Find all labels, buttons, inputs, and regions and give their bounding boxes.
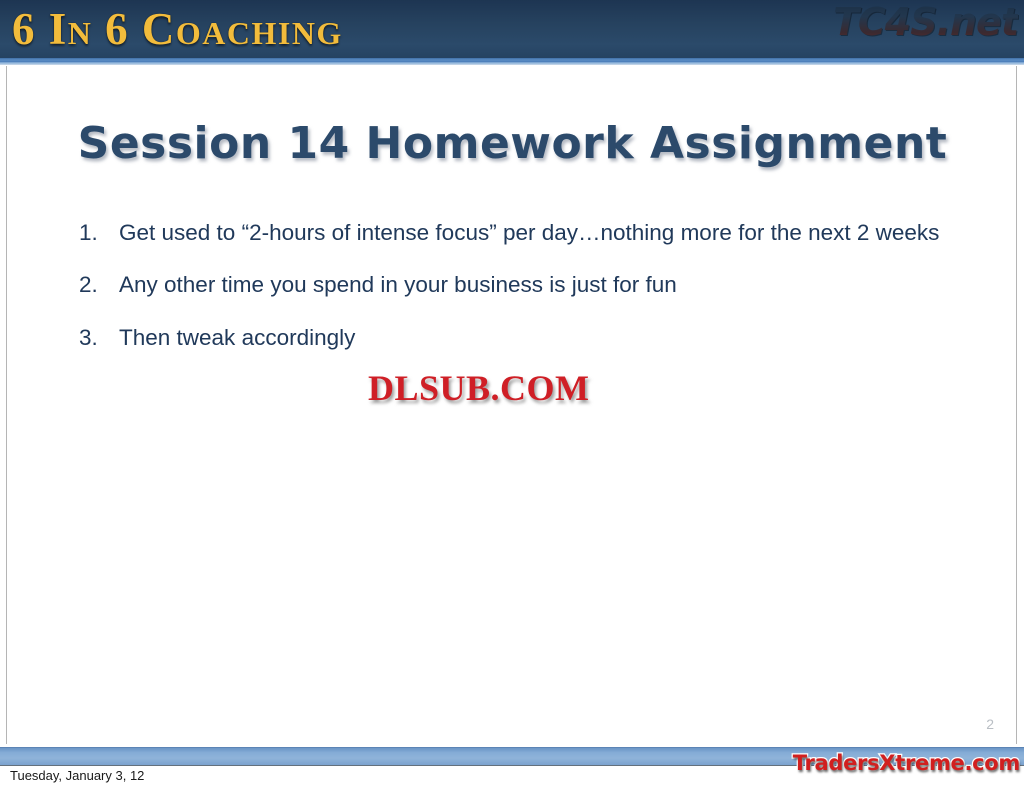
presentation-slide: 6 In 6 Coaching TC4S.net Session 14 Home… [0, 0, 1024, 788]
footer-date: Tuesday, January 3, 12 [10, 768, 144, 783]
homework-list: 1. Get used to “2-hours of intense focus… [75, 218, 985, 353]
tradersxtreme-watermark: TradersXtreme.com [793, 753, 1020, 774]
slide-header-band: 6 In 6 Coaching TC4S.net [0, 0, 1024, 62]
list-item: 3. Then tweak accordingly [75, 323, 985, 353]
list-item-number: 3. [79, 323, 98, 353]
slide-page-number: 2 [986, 716, 994, 732]
list-item: 2. Any other time you spend in your busi… [75, 270, 985, 300]
header-underline-divider [0, 62, 1024, 65]
list-item-text: Get used to “2-hours of intense focus” p… [119, 218, 985, 248]
brand-title: 6 In 6 Coaching [12, 6, 343, 53]
page-title: Session 14 Homework Assignment [7, 118, 1018, 169]
list-item-text: Then tweak accordingly [119, 323, 985, 353]
list-item-text: Any other time you spend in your busines… [119, 270, 985, 300]
list-item: 1. Get used to “2-hours of intense focus… [75, 218, 985, 248]
dlsub-watermark: DLSUB.COM [368, 370, 590, 406]
list-item-number: 1. [79, 218, 98, 248]
list-item-number: 2. [79, 270, 98, 300]
site-logo: TC4S.net [833, 2, 1018, 44]
